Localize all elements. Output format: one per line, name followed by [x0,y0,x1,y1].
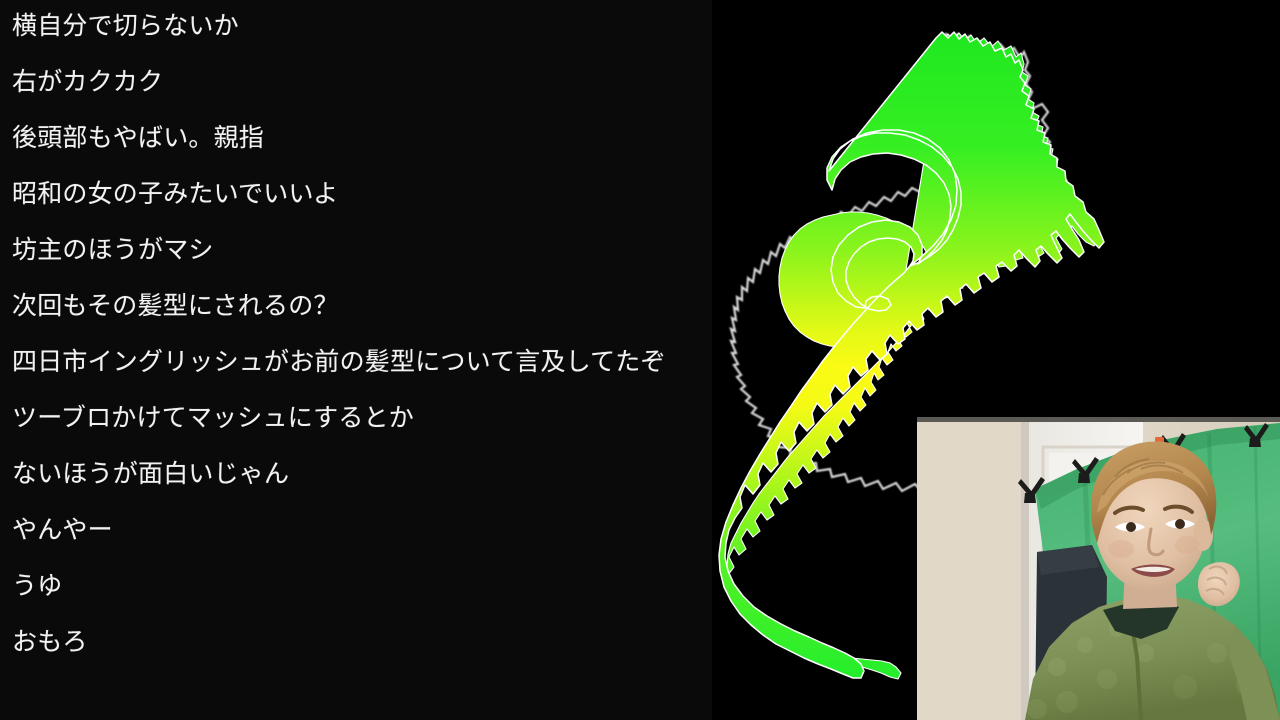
comment-item: うゆ [12,566,702,607]
pupil-right [1175,519,1185,529]
pupil-left [1126,522,1136,532]
comment-panel[interactable]: 横自分で切らないか 右がカクカク 後頭部もやばい。親指 昭和の女の子みたいでいい… [0,0,712,720]
webcam-overlay[interactable] [917,417,1280,720]
ceiling-rail [917,417,1280,422]
comment-item: ツーブロかけてマッシュにするとか [12,398,702,439]
door-frame-left [1021,422,1029,720]
comment-item: 昭和の女の子みたいでいいよ [12,174,702,215]
comment-item: 坊主のほうがマシ [12,230,702,271]
comment-item: 横自分で切らないか [12,6,702,47]
cheek-shadow-right [1175,536,1199,554]
wall-highlight [917,422,1025,720]
stream-stage: 横自分で切らないか 右がカクカク 後頭部もやばい。親指 昭和の女の子みたいでいい… [0,0,1280,720]
comment-item: 次回もその髪型にされるの？ [12,286,702,327]
comment-item: 後頭部もやばい。親指 [12,118,702,159]
webcam-video-frame [917,417,1280,720]
comment-item: 四日市イングリッシュがお前の髪型について言及してたぞ [12,342,702,383]
comment-item: やんやー [12,510,702,551]
cheek-shadow-left [1108,540,1134,558]
comment-item: ないほうが面白いじゃん [12,454,702,495]
comment-item: 右がカクカク [12,62,702,103]
comment-item: おもろ [12,622,702,663]
comment-list: 横自分で切らないか 右がカクカク 後頭部もやばい。親指 昭和の女の子みたいでいい… [12,6,702,663]
